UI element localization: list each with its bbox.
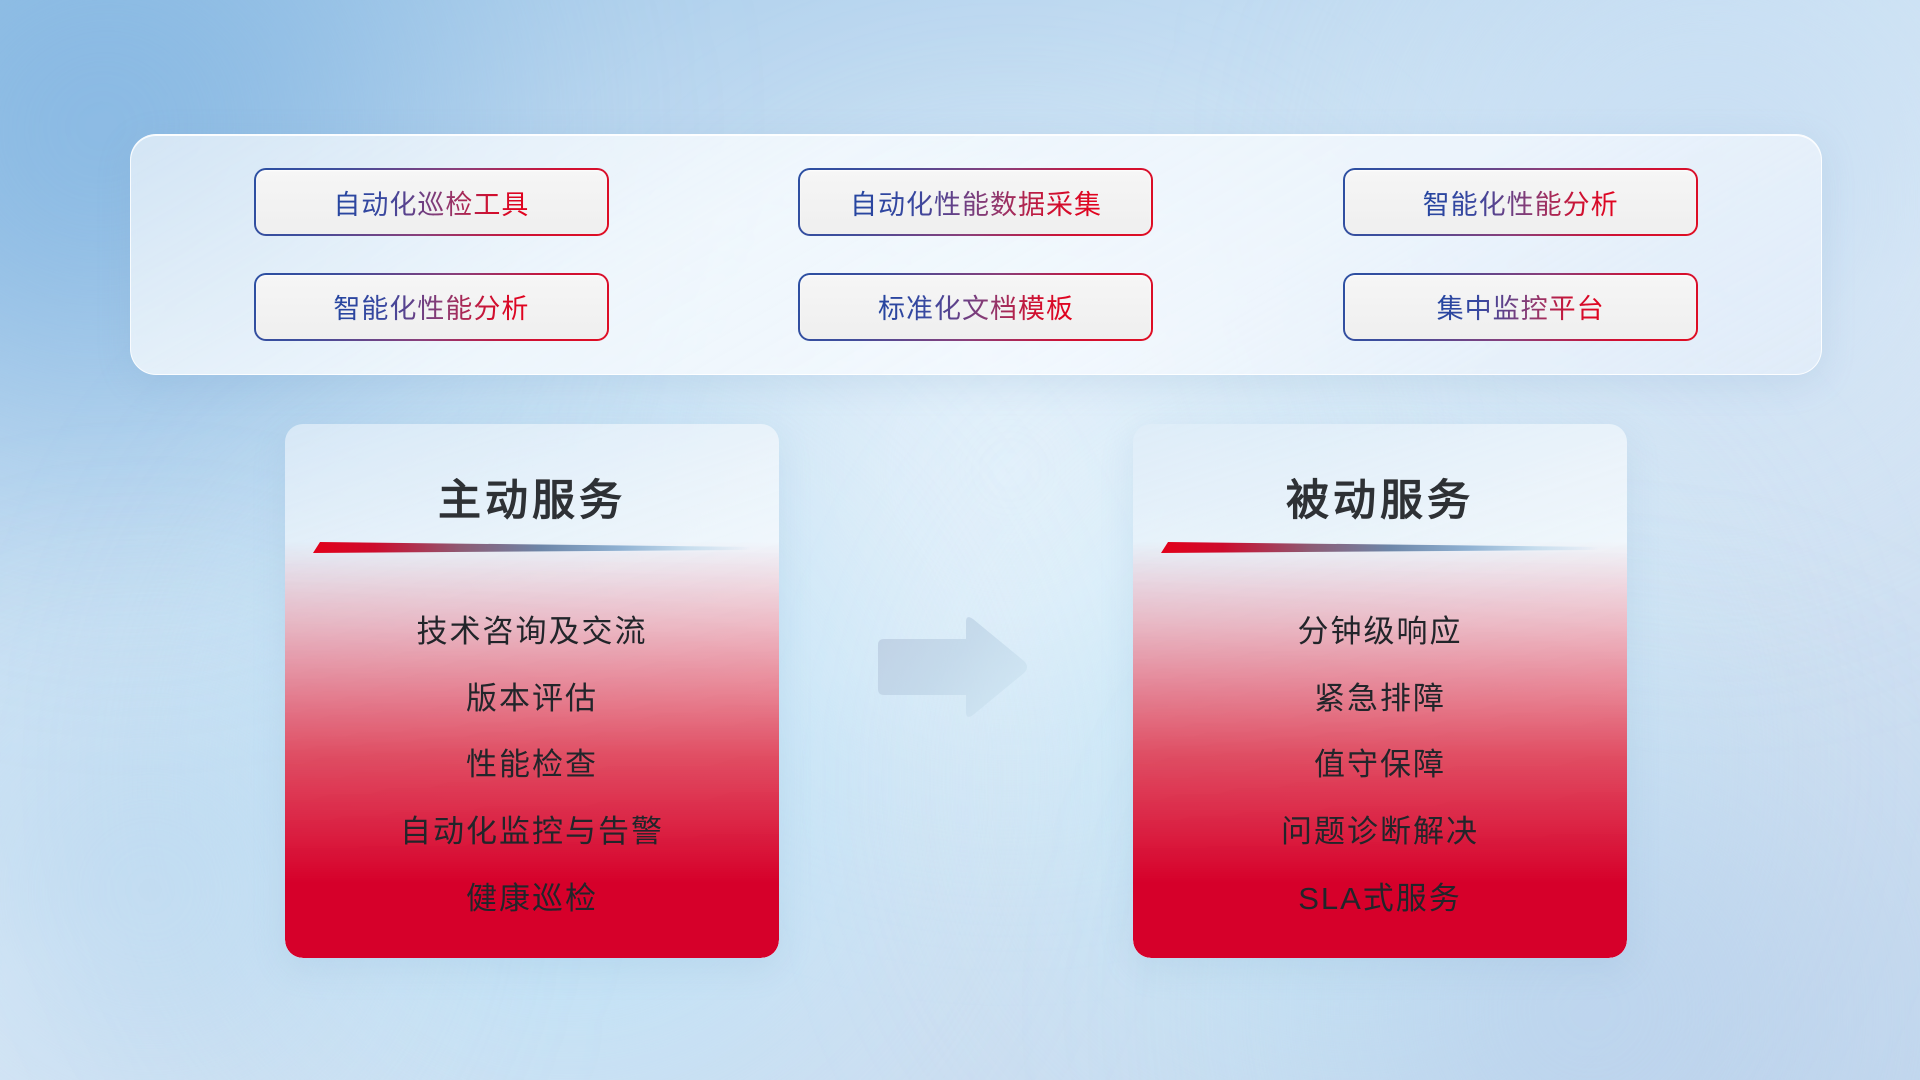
list-item: 健康巡检 (466, 873, 598, 918)
service-card-reactive: 被动服务 分钟级响应 紧急排障 值守保障 问题诊断解决 SLA式服务 (1133, 424, 1627, 958)
list-item: 值守保障 (1314, 739, 1446, 784)
list-item: 技术咨询及交流 (417, 606, 648, 651)
capability-pill[interactable]: 标准化文档模板 (798, 273, 1153, 341)
card-title: 被动服务 (1133, 466, 1627, 528)
capability-pill-surface: 自动化性能数据采集 (800, 170, 1151, 234)
capability-pill-surface: 自动化巡检工具 (256, 170, 607, 234)
card-divider (1161, 542, 1599, 553)
list-item: 紧急排障 (1314, 673, 1446, 718)
card-title: 主动服务 (285, 466, 779, 528)
capability-pill[interactable]: 智能化性能分析 (1343, 168, 1698, 236)
capability-pill-surface: 智能化性能分析 (1345, 170, 1696, 234)
list-item: 版本评估 (466, 673, 598, 718)
capability-pill-label: 智能化性能分析 (1423, 183, 1619, 222)
list-item: 性能检查 (466, 739, 598, 784)
capability-pill[interactable]: 自动化巡检工具 (254, 168, 609, 236)
capability-pill-label: 自动化性能数据采集 (850, 183, 1102, 222)
card-divider (313, 542, 751, 553)
capability-pill[interactable]: 自动化性能数据采集 (798, 168, 1153, 236)
capability-pill-label: 标准化文档模板 (878, 287, 1074, 326)
list-item: 分钟级响应 (1298, 606, 1463, 651)
capability-pill-label: 自动化巡检工具 (333, 183, 529, 222)
list-item: 问题诊断解决 (1281, 806, 1479, 851)
capability-panel: 自动化巡检工具 自动化性能数据采集 智能化性能分析 智能化性能分析 标准化文档模… (130, 134, 1822, 375)
list-item: 自动化监控与告警 (400, 806, 664, 851)
service-card-proactive: 主动服务 技术咨询及交流 版本评估 性能检查 自动化监控与告警 健康巡检 (285, 424, 779, 958)
capability-pill-surface: 标准化文档模板 (800, 275, 1151, 339)
capability-pill-surface: 集中监控平台 (1345, 275, 1696, 339)
capability-pill[interactable]: 智能化性能分析 (254, 273, 609, 341)
arrow-right-icon (870, 613, 1030, 723)
capability-pill[interactable]: 集中监控平台 (1343, 273, 1698, 341)
capability-pill-label: 智能化性能分析 (333, 287, 529, 326)
card-item-list: 技术咨询及交流 版本评估 性能检查 自动化监控与告警 健康巡检 (285, 584, 779, 940)
card-item-list: 分钟级响应 紧急排障 值守保障 问题诊断解决 SLA式服务 (1133, 584, 1627, 940)
list-item: SLA式服务 (1298, 873, 1462, 918)
capability-pill-label: 集中监控平台 (1437, 287, 1605, 326)
capability-pill-grid: 自动化巡检工具 自动化性能数据采集 智能化性能分析 智能化性能分析 标准化文档模… (131, 135, 1821, 374)
capability-pill-surface: 智能化性能分析 (256, 275, 607, 339)
